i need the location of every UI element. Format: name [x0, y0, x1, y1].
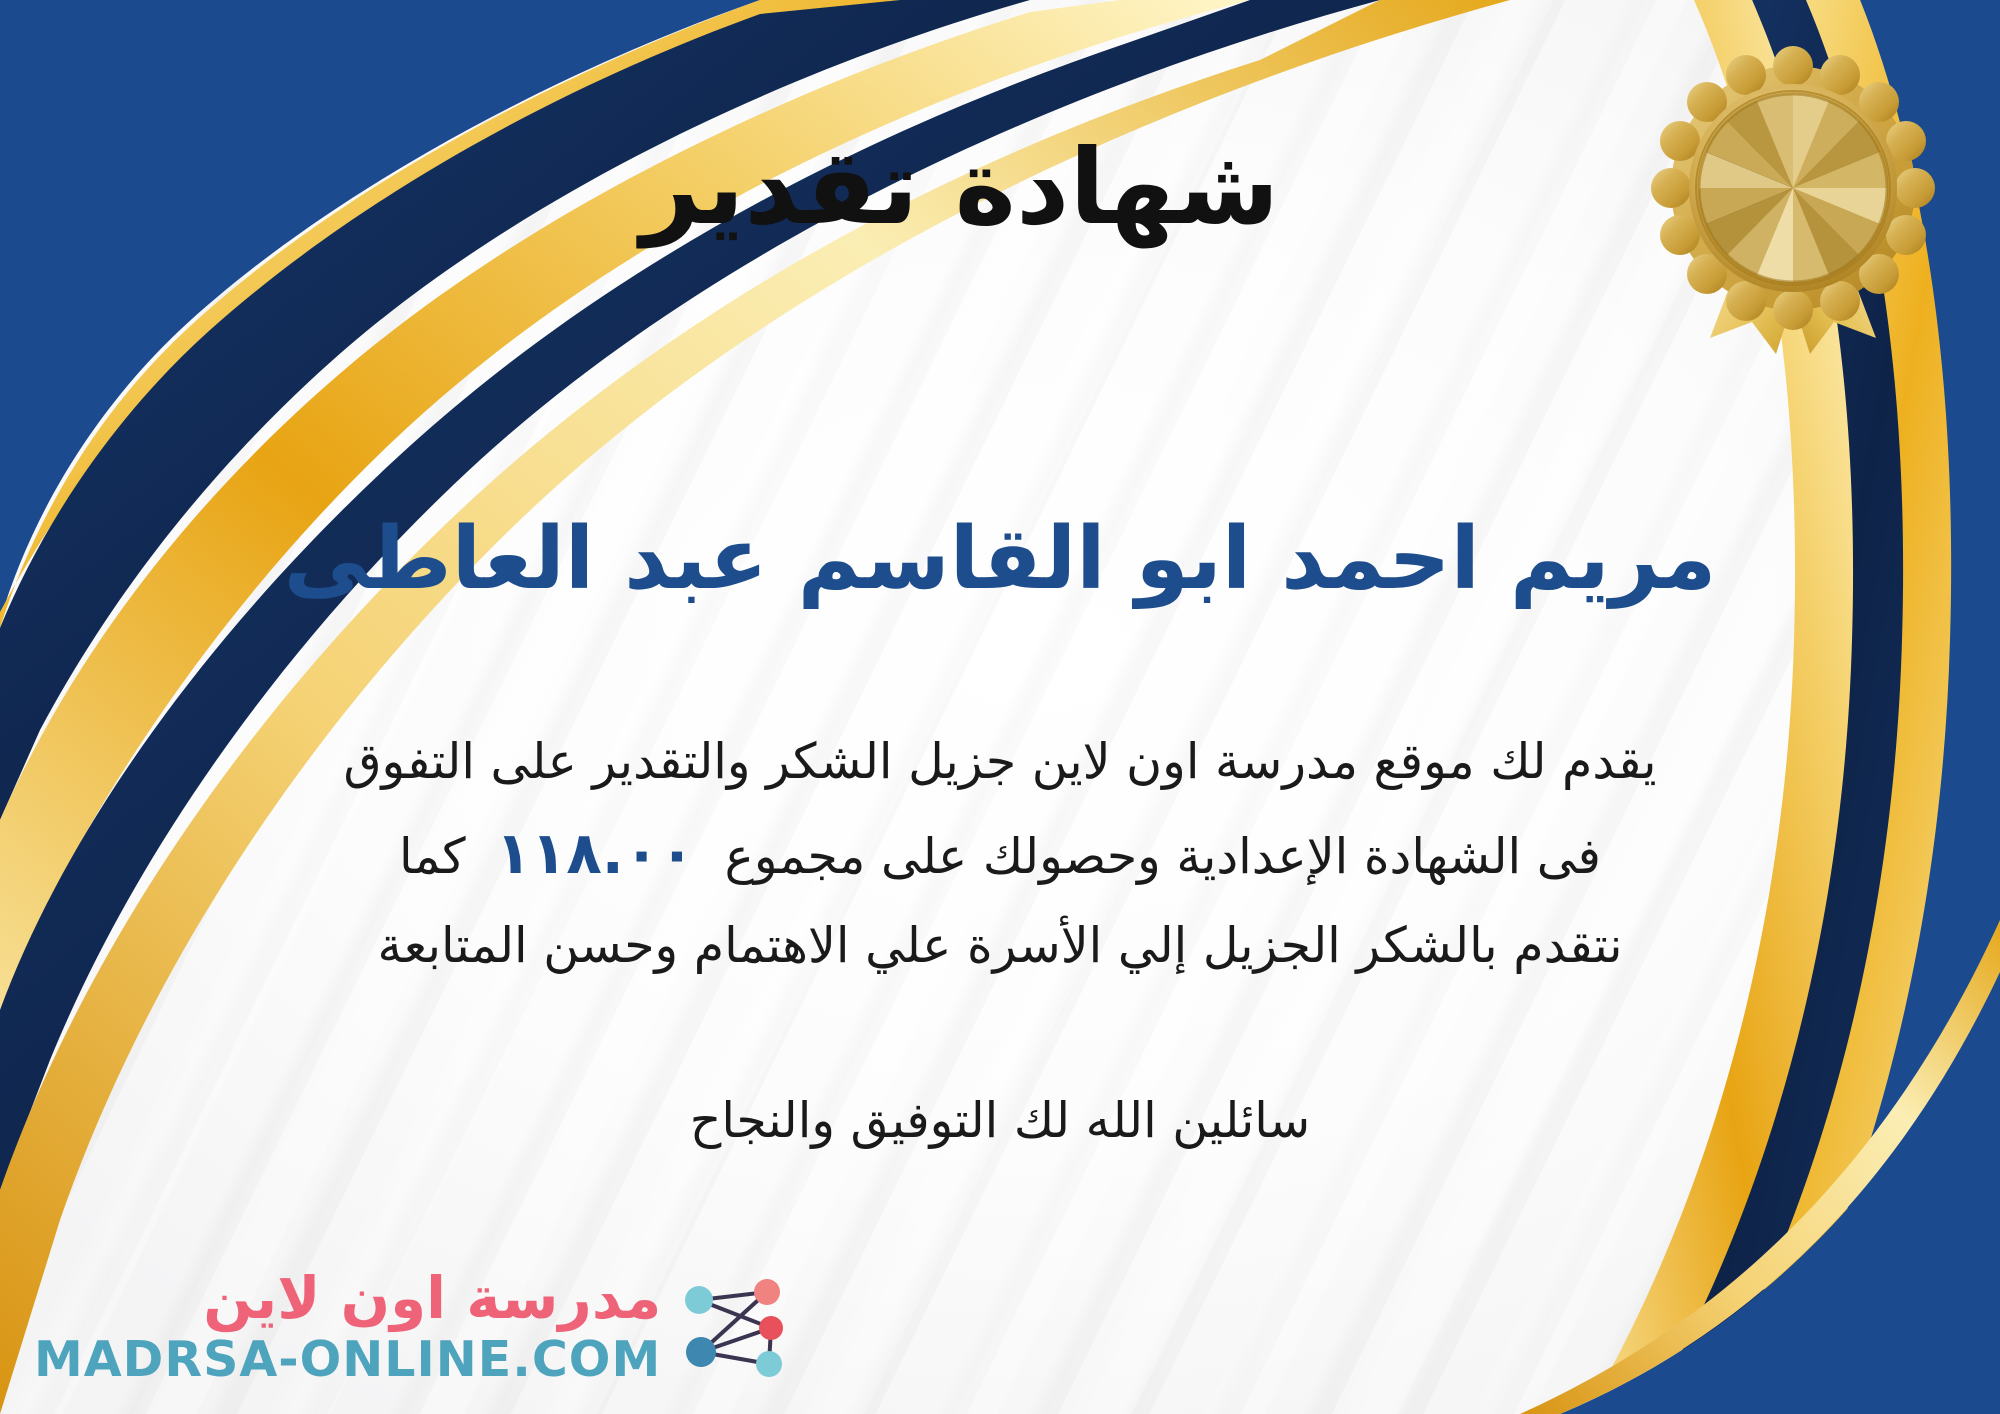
body-line-3: نتقدم بالشكر الجزيل إلي الأسرة علي الاهت…: [60, 904, 1940, 988]
certificate-content: شهادة تقدير مريم احمد ابو القاسم عبد الع…: [0, 0, 2000, 1414]
body-line-1: يقدم لك موقع مدرسة اون لاين جزيل الشكر و…: [60, 720, 1940, 804]
closing-wish: سائلين الله لك التوفيق والنجاح: [0, 1082, 2000, 1160]
student-name: مريم احمد ابو القاسم عبد العاطى: [0, 510, 2000, 609]
total-score: ١١٨.٠٠: [466, 819, 725, 887]
site-logo[interactable]: مدرسة اون لاين MADRSA-ONLINE.COM: [34, 1266, 795, 1386]
logo-text-group: مدرسة اون لاين MADRSA-ONLINE.COM: [34, 1269, 661, 1384]
logo-domain: MADRSA-ONLINE.COM: [34, 1335, 661, 1384]
page-title: شهادة تقدير: [0, 130, 2000, 244]
certificate-body: يقدم لك موقع مدرسة اون لاين جزيل الشكر و…: [60, 720, 1940, 988]
logo-arabic-name: مدرسة اون لاين: [203, 1269, 661, 1327]
certificate-canvas: شهادة تقدير مريم احمد ابو القاسم عبد الع…: [0, 0, 2000, 1414]
network-nodes-icon: [675, 1266, 795, 1386]
body-line-2-left: كما: [399, 828, 466, 885]
body-line-2: فى الشهادة الإعدادية وحصولك على مجموع١١٨…: [60, 804, 1940, 904]
body-line-2-right: فى الشهادة الإعدادية وحصولك على مجموع: [725, 828, 1601, 885]
